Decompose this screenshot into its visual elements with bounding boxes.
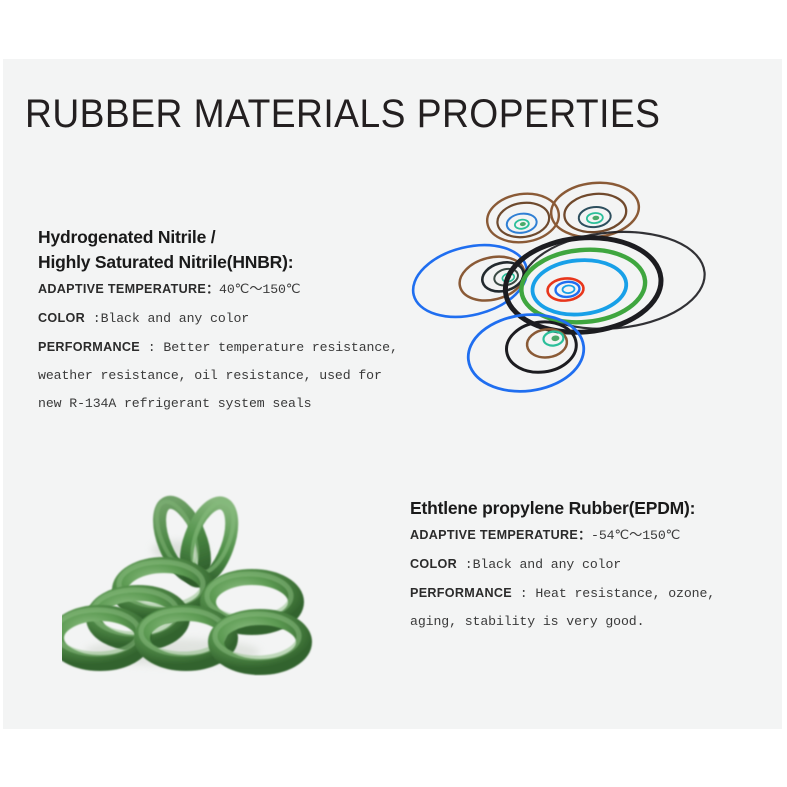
epdm-spec-temperature: ADAPTIVE TEMPERATURE：-54℃～150℃: [410, 521, 715, 550]
green-o-rings-svg: [62, 466, 330, 676]
epdm-temperature-label: ADAPTIVE TEMPERATURE：: [410, 528, 591, 542]
hnbr-spec-temperature: ADAPTIVE TEMPERATURE：40℃～150℃: [38, 275, 398, 304]
green-o-rings-photo: [62, 466, 330, 676]
hnbr-temperature-value: 40℃～150℃: [219, 282, 301, 297]
o-ring-cluster-top-left: [484, 189, 562, 247]
epdm-performance-cont-1: aging, stability is very good.: [410, 608, 715, 636]
hnbr-performance-cont-2: new R-134A refrigerant system seals: [38, 390, 398, 418]
epdm-performance-value: : Heat resistance, ozone,: [512, 586, 715, 601]
o-ring-illustration-svg: [398, 178, 728, 403]
hnbr-heading-line1: Hydrogenated Nitrile /: [38, 225, 398, 250]
epdm-performance-label: PERFORMANCE: [410, 586, 512, 600]
epdm-color-label: COLOR: [410, 557, 457, 571]
page-title: RUBBER MATERIALS PROPERTIES: [25, 92, 660, 137]
hnbr-performance-value: : Better temperature resistance,: [140, 340, 398, 355]
hnbr-spec-performance: PERFORMANCE : Better temperature resista…: [38, 333, 398, 362]
epdm-spec-color: COLOR :Black and any color: [410, 550, 715, 579]
hnbr-text-block: Hydrogenated Nitrile / Highly Saturated …: [38, 225, 398, 418]
hnbr-spec-color: COLOR :Black and any color: [38, 304, 398, 333]
epdm-color-value: :Black and any color: [457, 557, 621, 572]
hnbr-performance-cont-1: weather resistance, oil resistance, used…: [38, 362, 398, 390]
hnbr-performance-label: PERFORMANCE: [38, 340, 140, 354]
page-root: RUBBER MATERIALS PROPERTIES: [0, 0, 787, 787]
o-ring-illustration: [398, 178, 728, 403]
hnbr-temperature-label: ADAPTIVE TEMPERATURE：: [38, 282, 219, 296]
epdm-temperature-value: -54℃～150℃: [591, 528, 680, 543]
epdm-spec-performance: PERFORMANCE : Heat resistance, ozone,: [410, 579, 715, 608]
hnbr-color-label: COLOR: [38, 311, 85, 325]
epdm-text-block: Ethtlene propylene Rubber(EPDM): ADAPTIV…: [410, 496, 715, 636]
epdm-heading-line1: Ethtlene propylene Rubber(EPDM):: [410, 496, 715, 521]
hnbr-heading-line2: Highly Saturated Nitrile(HNBR):: [38, 250, 398, 275]
hnbr-color-value: :Black and any color: [85, 311, 249, 326]
